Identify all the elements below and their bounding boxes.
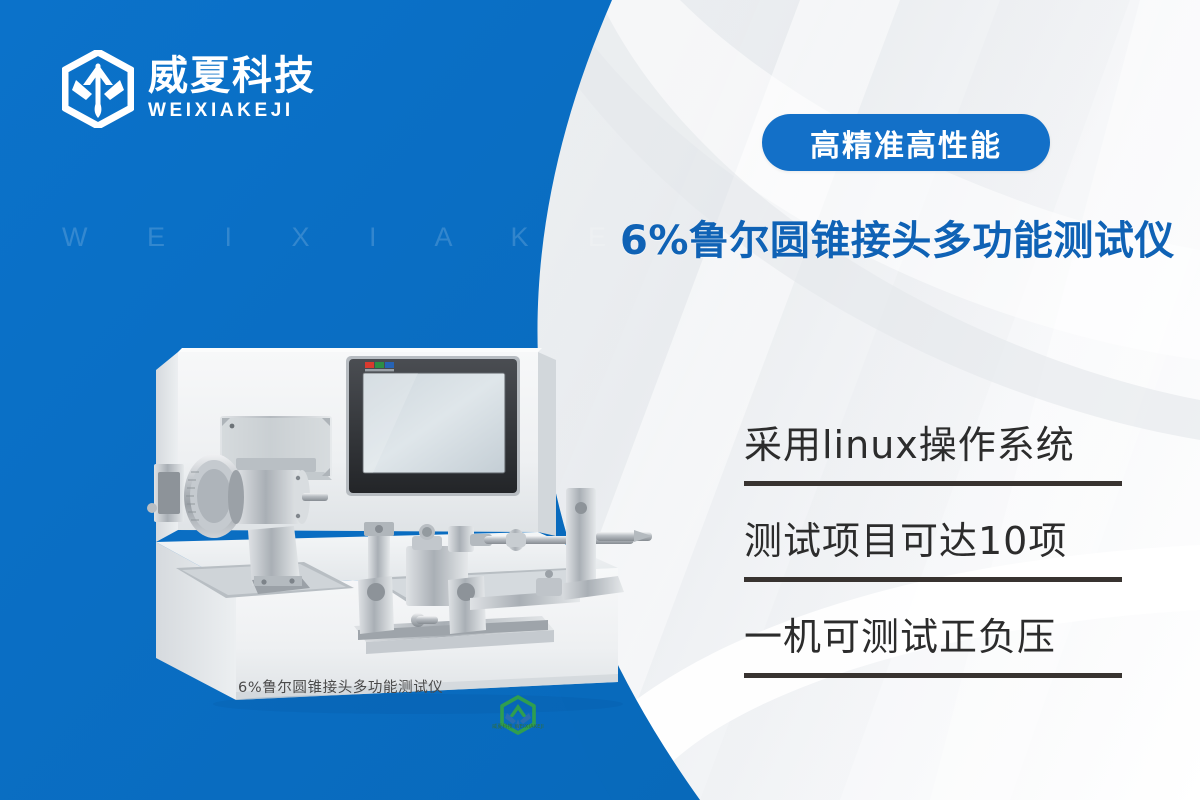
feature-divider bbox=[744, 481, 1122, 486]
weixia-hexagon-arrow-logo bbox=[62, 50, 134, 128]
feature-item: 一机可测试正负压 bbox=[744, 598, 1124, 694]
feature-label: 测试项目可达10项 bbox=[744, 502, 1124, 572]
brand-name-en: WEIXIAKEJI bbox=[148, 99, 316, 123]
feature-divider bbox=[744, 577, 1122, 582]
highlight-badge: 高精准高性能 bbox=[762, 114, 1050, 171]
feature-label: 采用linux操作系统 bbox=[744, 406, 1124, 476]
feature-item: 测试项目可达10项 bbox=[744, 502, 1124, 598]
product-panel-label: 6%鲁尔圆锥接头多功能测试仪 bbox=[238, 676, 443, 697]
brand-logo: 威夏科技 WEIXIAKEJI bbox=[62, 50, 316, 128]
product-banner: W E I X I A K E J I 威夏科技 WEIXIAKEJI 高精准高… bbox=[0, 0, 1200, 800]
brand-name-cn: 威夏科技 bbox=[148, 55, 316, 97]
touchscreen-hmi bbox=[346, 356, 520, 496]
feature-label: 一机可测试正负压 bbox=[744, 598, 1124, 668]
page-title: 6%鲁尔圆锥接头多功能测试仪 bbox=[620, 208, 1180, 266]
hmi-brand-stripe bbox=[365, 362, 394, 371]
product-panel-logo-caption: 威夏科技 WEIXIAKEJI bbox=[489, 723, 547, 730]
feature-item: 采用linux操作系统 bbox=[744, 406, 1124, 502]
feature-list: 采用linux操作系统 测试项目可达10项 一机可测试正负压 bbox=[744, 406, 1124, 694]
highlight-badge-label: 高精准高性能 bbox=[810, 121, 1002, 165]
feature-divider bbox=[744, 673, 1122, 678]
